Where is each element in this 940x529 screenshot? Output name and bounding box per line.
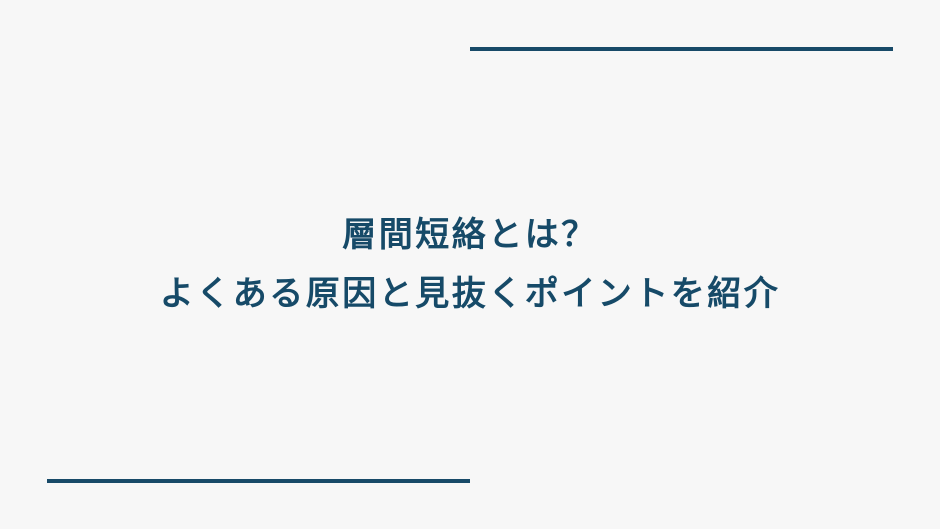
title-line-2: よくある原因と見抜くポイントを紹介 <box>160 265 781 323</box>
title-slide: 層間短絡とは？ よくある原因と見抜くポイントを紹介 <box>0 0 940 529</box>
bottom-accent-rule <box>47 479 470 483</box>
title-line-1: 層間短絡とは？ <box>342 206 598 264</box>
title-block: 層間短絡とは？ よくある原因と見抜くポイントを紹介 <box>0 0 940 529</box>
